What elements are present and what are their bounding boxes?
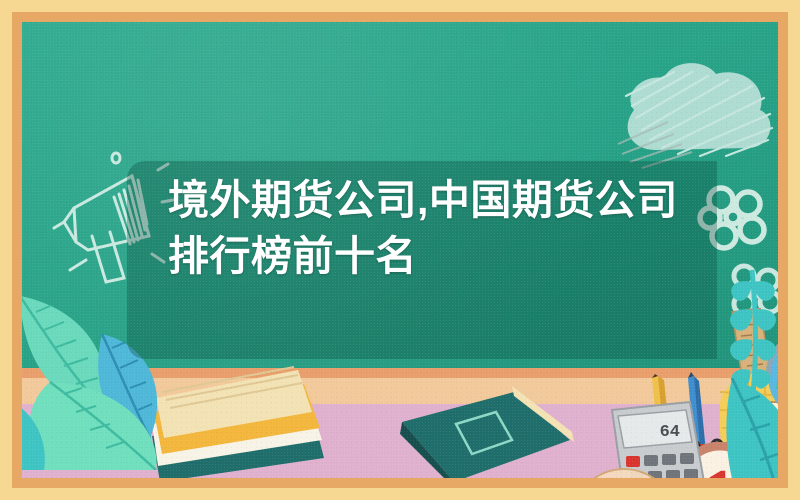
screenshot-root: 1 64: [0, 0, 800, 500]
teal-notebook-icon: [394, 378, 574, 478]
calculator-display: 64: [660, 423, 680, 442]
leaf-icon: [768, 422, 778, 478]
protractor-icon: [570, 458, 680, 478]
page-title: 境外期货公司,中国期货公司排行榜前十名: [168, 172, 688, 284]
